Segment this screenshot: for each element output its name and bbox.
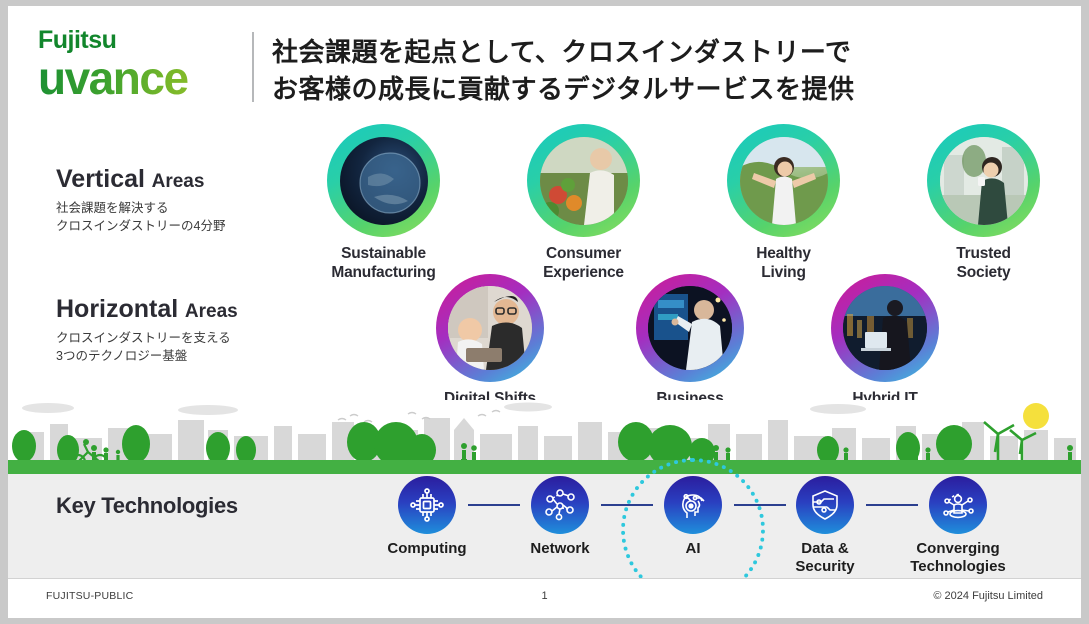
- tech-label-line1: Data &: [765, 540, 885, 558]
- horizontal-ring: [636, 274, 744, 382]
- trusted-society-illustration: [940, 137, 1028, 225]
- vertical-areas-subtitle-line2: クロスインダストリーの4分野: [56, 217, 321, 235]
- horizontal-areas-title: Horizontal Areas: [56, 296, 321, 324]
- vertical-areas-subtitle-line1: 社会課題を解決する: [56, 199, 321, 217]
- vertical-ring: [527, 124, 640, 237]
- sun-icon: [1023, 403, 1049, 429]
- photo-woman-with-coffee-city: [940, 137, 1028, 225]
- vertical-ring: [927, 124, 1040, 237]
- person-network-icon: [929, 476, 987, 534]
- vertical-ring: [727, 124, 840, 237]
- circle-label-line1: Healthy: [711, 245, 856, 264]
- vertical-areas-title: Vertical Areas: [56, 166, 321, 194]
- circle-label-line1: Sustainable: [311, 245, 456, 264]
- key-technologies-label: Key Technologies: [56, 493, 238, 519]
- ai-head-brain-icon: [664, 476, 722, 534]
- slide-header: Fujitsu uvance 社会課題を起点として、クロスインダストリーで お客…: [8, 6, 1081, 114]
- shopping-illustration: [540, 137, 628, 225]
- horizontal-areas-title-strong: Horizontal: [56, 295, 178, 323]
- footer-copyright: © 2024 Fujitsu Limited: [933, 590, 1043, 602]
- cpu-chip-icon: [398, 476, 456, 534]
- digital-shifts-illustration: [448, 286, 532, 370]
- horizontal-areas-subtitle-line1: クロスインダストリーを支える: [56, 329, 321, 347]
- key-tech-data-security[interactable]: Data & Security: [765, 476, 885, 575]
- header-divider: [252, 32, 254, 102]
- photo-earth-from-space: [340, 137, 428, 225]
- tech-label-line1: Computing: [367, 540, 487, 558]
- key-tech-converging-technologies[interactable]: Converging Technologies: [898, 476, 1018, 575]
- vertical-circle-trusted-society[interactable]: Trusted Society: [911, 124, 1056, 283]
- vertical-circle-sustainable-manufacturing[interactable]: Sustainable Manufacturing: [311, 124, 456, 283]
- hybrid-it-illustration: [843, 286, 927, 370]
- page-title: 社会課題を起点として、クロスインダストリーで お客様の成長に貢献するデジタルサー…: [272, 34, 1062, 108]
- horizontal-ring: [831, 274, 939, 382]
- page-title-line2: お客様の成長に貢献するデジタルサービスを提供: [272, 71, 1062, 108]
- tech-label: Computing: [367, 540, 487, 558]
- vertical-circle-consumer-experience[interactable]: Consumer Experience: [511, 124, 656, 283]
- tech-label-line2: Technologies: [898, 558, 1018, 576]
- horizontal-areas-subtitle: クロスインダストリーを支える 3つのテクノロジー基盤: [56, 329, 321, 365]
- earth-illustration: [340, 137, 428, 225]
- photo-woman-shopping-vegetables: [540, 137, 628, 225]
- horizontal-areas-heading: Horizontal Areas クロスインダストリーを支える 3つのテクノロジ…: [56, 296, 321, 365]
- page-title-line1: 社会課題を起点として、クロスインダストリーで: [272, 34, 1062, 71]
- key-tech-computing[interactable]: Computing: [367, 476, 487, 558]
- horizontal-ring: [436, 274, 544, 382]
- city-skyline-band: [8, 400, 1081, 474]
- vertical-ring: [327, 124, 440, 237]
- vertical-areas-title-light: Areas: [152, 171, 205, 192]
- tech-label: Converging Technologies: [898, 540, 1018, 575]
- key-tech-network[interactable]: Network: [500, 476, 620, 558]
- photo-person-laptop-night-city: [843, 286, 927, 370]
- business-apps-illustration: [648, 286, 732, 370]
- circle-label-line1: Consumer: [511, 245, 656, 264]
- tech-label: AI: [633, 540, 753, 558]
- vertical-areas-heading: Vertical Areas 社会課題を解決する クロスインダストリーの4分野: [56, 166, 321, 235]
- tech-label-line1: AI: [633, 540, 753, 558]
- slide-canvas: Fujitsu uvance 社会課題を起点として、クロスインダストリーで お客…: [8, 6, 1081, 618]
- vertical-areas-subtitle: 社会課題を解決する クロスインダストリーの4分野: [56, 199, 321, 235]
- photo-woman-arms-open-nature: [740, 137, 828, 225]
- fujitsu-wordmark: Fujitsu: [38, 28, 238, 53]
- circle-label-line1: Trusted: [911, 245, 1056, 264]
- slide-footer: FUJITSU-PUBLIC 1 © 2024 Fujitsu Limited: [8, 578, 1081, 618]
- horizontal-circle-digital-shifts[interactable]: Digital Shifts: [416, 274, 564, 409]
- photo-father-and-child-tablet: [448, 286, 532, 370]
- uvance-wordmark: uvance: [38, 55, 238, 101]
- horizontal-areas-title-light: Areas: [185, 301, 238, 322]
- fujitsu-uvance-logo: Fujitsu uvance: [38, 28, 238, 101]
- tech-label-line1: Network: [500, 540, 620, 558]
- network-nodes-icon: [531, 476, 589, 534]
- tech-label-line1: Converging: [898, 540, 1018, 558]
- shield-circuit-icon: [796, 476, 854, 534]
- healthy-living-illustration: [740, 137, 828, 225]
- key-tech-ai[interactable]: AI: [633, 476, 753, 558]
- photo-person-touch-screen-dark: [648, 286, 732, 370]
- tech-label-line2: Security: [765, 558, 885, 576]
- city-skyline-illustration: [8, 400, 1081, 474]
- horizontal-circle-hybrid-it[interactable]: Hybrid IT: [811, 274, 959, 409]
- tech-label: Network: [500, 540, 620, 558]
- horizontal-areas-subtitle-line2: 3つのテクノロジー基盤: [56, 347, 321, 365]
- tech-label: Data & Security: [765, 540, 885, 575]
- vertical-circle-healthy-living[interactable]: Healthy Living: [711, 124, 856, 283]
- vertical-areas-title-strong: Vertical: [56, 165, 145, 193]
- footer-page-number: 1: [8, 590, 1081, 602]
